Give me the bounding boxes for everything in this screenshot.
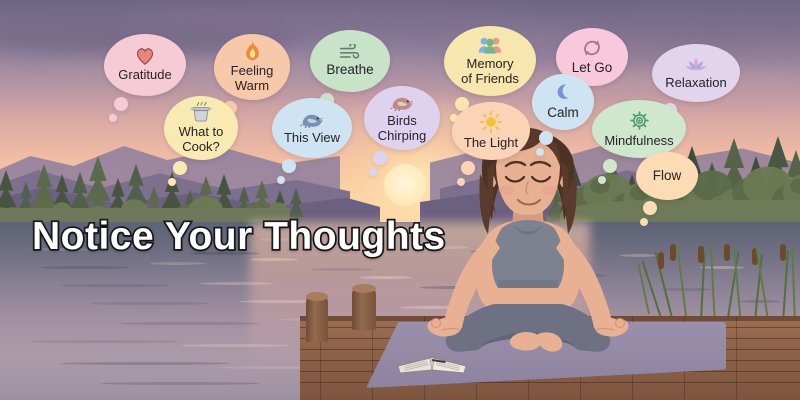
thought-bubble-label: Relaxation bbox=[661, 76, 730, 90]
dock-piling bbox=[306, 296, 328, 342]
lotus-icon bbox=[684, 56, 708, 75]
thought-bubble-the-light: The Light bbox=[452, 102, 530, 160]
thought-bubble-label: Gratitude bbox=[114, 68, 175, 82]
meditation-scene-illustration: Notice Your Thoughts Gratitude FeelingWa… bbox=[0, 0, 800, 400]
thought-bubble-label: Calm bbox=[543, 106, 583, 121]
thought-bubble-memory-of-friends: Memoryof Friends bbox=[444, 26, 536, 96]
thought-bubble-label: Flow bbox=[649, 169, 686, 184]
bird-icon bbox=[300, 110, 324, 130]
left-hand-mudra bbox=[428, 317, 462, 336]
thought-bubble-label: The Light bbox=[460, 136, 522, 150]
thought-bubble-label: What toCook? bbox=[175, 125, 228, 153]
recycle-icon bbox=[581, 38, 603, 61]
people-icon bbox=[478, 36, 502, 56]
bird-icon bbox=[390, 93, 414, 113]
thought-bubble-gratitude: Gratitude bbox=[104, 34, 186, 96]
heart-icon bbox=[135, 47, 155, 67]
thought-bubble-what-to-cook: What toCook? bbox=[164, 96, 238, 160]
sports-top bbox=[492, 220, 564, 288]
thought-bubble-this-view: This View bbox=[272, 98, 352, 158]
dock-piling-top bbox=[306, 292, 328, 301]
thought-bubble-flow: Flow bbox=[636, 152, 698, 200]
right-hand-mudra bbox=[594, 317, 628, 336]
thought-bubble-label: Breathe bbox=[322, 63, 377, 78]
flame-icon bbox=[244, 41, 261, 63]
pot-icon bbox=[190, 102, 212, 124]
page-title: Notice Your Thoughts bbox=[32, 215, 446, 259]
thought-bubble-label: Mindfulness bbox=[600, 134, 677, 148]
midriff bbox=[498, 288, 558, 304]
moon-icon bbox=[554, 83, 573, 106]
thought-bubble-label: FeelingWarm bbox=[227, 64, 278, 92]
thought-bubble-label: This View bbox=[280, 131, 344, 145]
dock-piling-top bbox=[352, 284, 376, 293]
thought-bubble-birds-chirping: BirdsChirping bbox=[364, 86, 440, 150]
sun-icon bbox=[480, 111, 502, 135]
dock-piling bbox=[352, 288, 376, 330]
thought-bubble-label: Memoryof Friends bbox=[457, 57, 523, 85]
mandala-icon bbox=[629, 110, 650, 133]
thought-bubble-label: BirdsChirping bbox=[374, 114, 430, 142]
wind-icon bbox=[339, 44, 361, 62]
thought-bubble-label: Let Go bbox=[568, 61, 617, 76]
